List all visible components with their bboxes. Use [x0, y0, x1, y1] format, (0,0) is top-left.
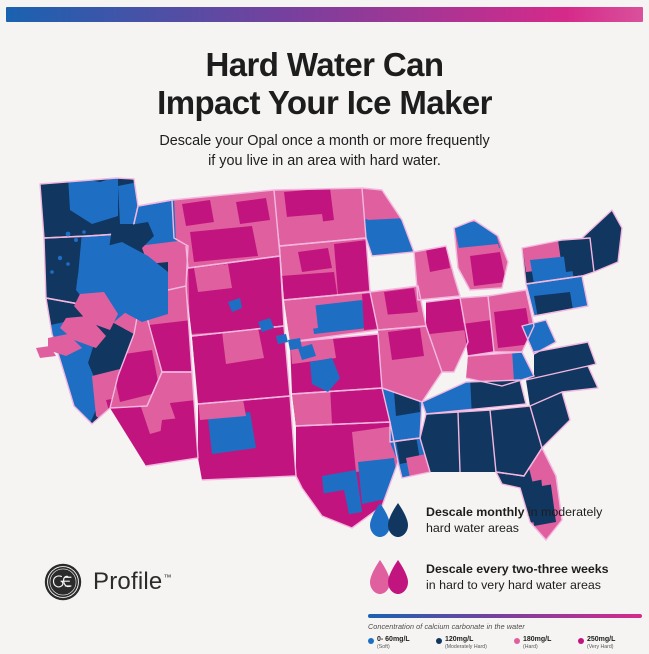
- legend-line2-hard: in hard to very hard water areas: [426, 578, 601, 592]
- hardness-scale-bar: [368, 614, 642, 618]
- legend-lead-hard: Descale every two-three weeks: [426, 562, 609, 576]
- page-subtitle: Descale your Opal once a month or more f…: [0, 131, 649, 171]
- scale-value-moderately-hard: 120mg/L: [445, 636, 487, 644]
- subtitle-line-2: if you live in an area with hard water.: [0, 151, 649, 171]
- scale-key-list: 0- 60mg/L (Soft) 120mg/L (Moderately Har…: [368, 636, 642, 651]
- ge-monogram-icon: [44, 563, 82, 601]
- scale-label-hard: (Hard): [523, 644, 551, 651]
- scale-label-very-hard: (Very Hard): [587, 644, 615, 651]
- subtitle-line-1: Descale your Opal once a month or more f…: [0, 131, 649, 151]
- scale-key-moderately-hard: 120mg/L (Moderately Hard): [436, 636, 514, 651]
- legend-row-moderate: Descale monthly in moderately hard water…: [368, 500, 642, 544]
- scale-dot-very-hard: [578, 638, 584, 644]
- brand-logo: Profile™: [44, 563, 172, 601]
- brand-name-text: Profile: [93, 568, 162, 595]
- legend-lead-moderate: Descale monthly: [426, 505, 524, 519]
- scale-key-text-hard: 180mg/L (Hard): [523, 636, 551, 651]
- scale-label-moderately-hard: (Moderately Hard): [445, 644, 487, 651]
- water-drop-pair-blue-icon: [368, 500, 416, 544]
- scale-dot-soft: [368, 638, 374, 644]
- scale-key-very-hard: 250mg/L (Very Hard): [578, 636, 642, 651]
- top-gradient-bar: [6, 7, 643, 22]
- water-drop-pair-pink-icon: [368, 557, 416, 601]
- brand-name: Profile™: [93, 568, 172, 596]
- page-title: Hard Water Can Impact Your Ice Maker: [0, 46, 649, 122]
- legend-text-hard: Descale every two-three weeks in hard to…: [426, 557, 609, 593]
- legend: Descale monthly in moderately hard water…: [368, 500, 642, 654]
- legend-row-hard: Descale every two-three weeks in hard to…: [368, 557, 642, 601]
- infographic-poster: Hard Water Can Impact Your Ice Maker Des…: [0, 0, 649, 654]
- scale-value-soft: 0- 60mg/L: [377, 636, 410, 644]
- scale-key-hard: 180mg/L (Hard): [514, 636, 578, 651]
- legend-line2-moderate: hard water areas: [426, 521, 519, 535]
- trademark-symbol: ™: [163, 573, 171, 582]
- title-line-1: Hard Water Can: [0, 46, 649, 84]
- scale-value-hard: 180mg/L: [523, 636, 551, 644]
- scale-key-text-very-hard: 250mg/L (Very Hard): [587, 636, 615, 651]
- legend-rest-moderate: in moderately: [524, 505, 602, 519]
- scale-label-soft: (Soft): [377, 644, 410, 651]
- scale-caption: Concentration of calcium carbonate in th…: [368, 622, 642, 631]
- scale-dot-hard: [514, 638, 520, 644]
- scale-key-text-soft: 0- 60mg/L (Soft): [377, 636, 410, 651]
- scale-dot-moderately-hard: [436, 638, 442, 644]
- scale-value-very-hard: 250mg/L: [587, 636, 615, 644]
- scale-key-soft: 0- 60mg/L (Soft): [368, 636, 436, 651]
- scale-key-text-moderately-hard: 120mg/L (Moderately Hard): [445, 636, 487, 651]
- title-line-2: Impact Your Ice Maker: [0, 84, 649, 122]
- legend-text-moderate: Descale monthly in moderately hard water…: [426, 500, 602, 536]
